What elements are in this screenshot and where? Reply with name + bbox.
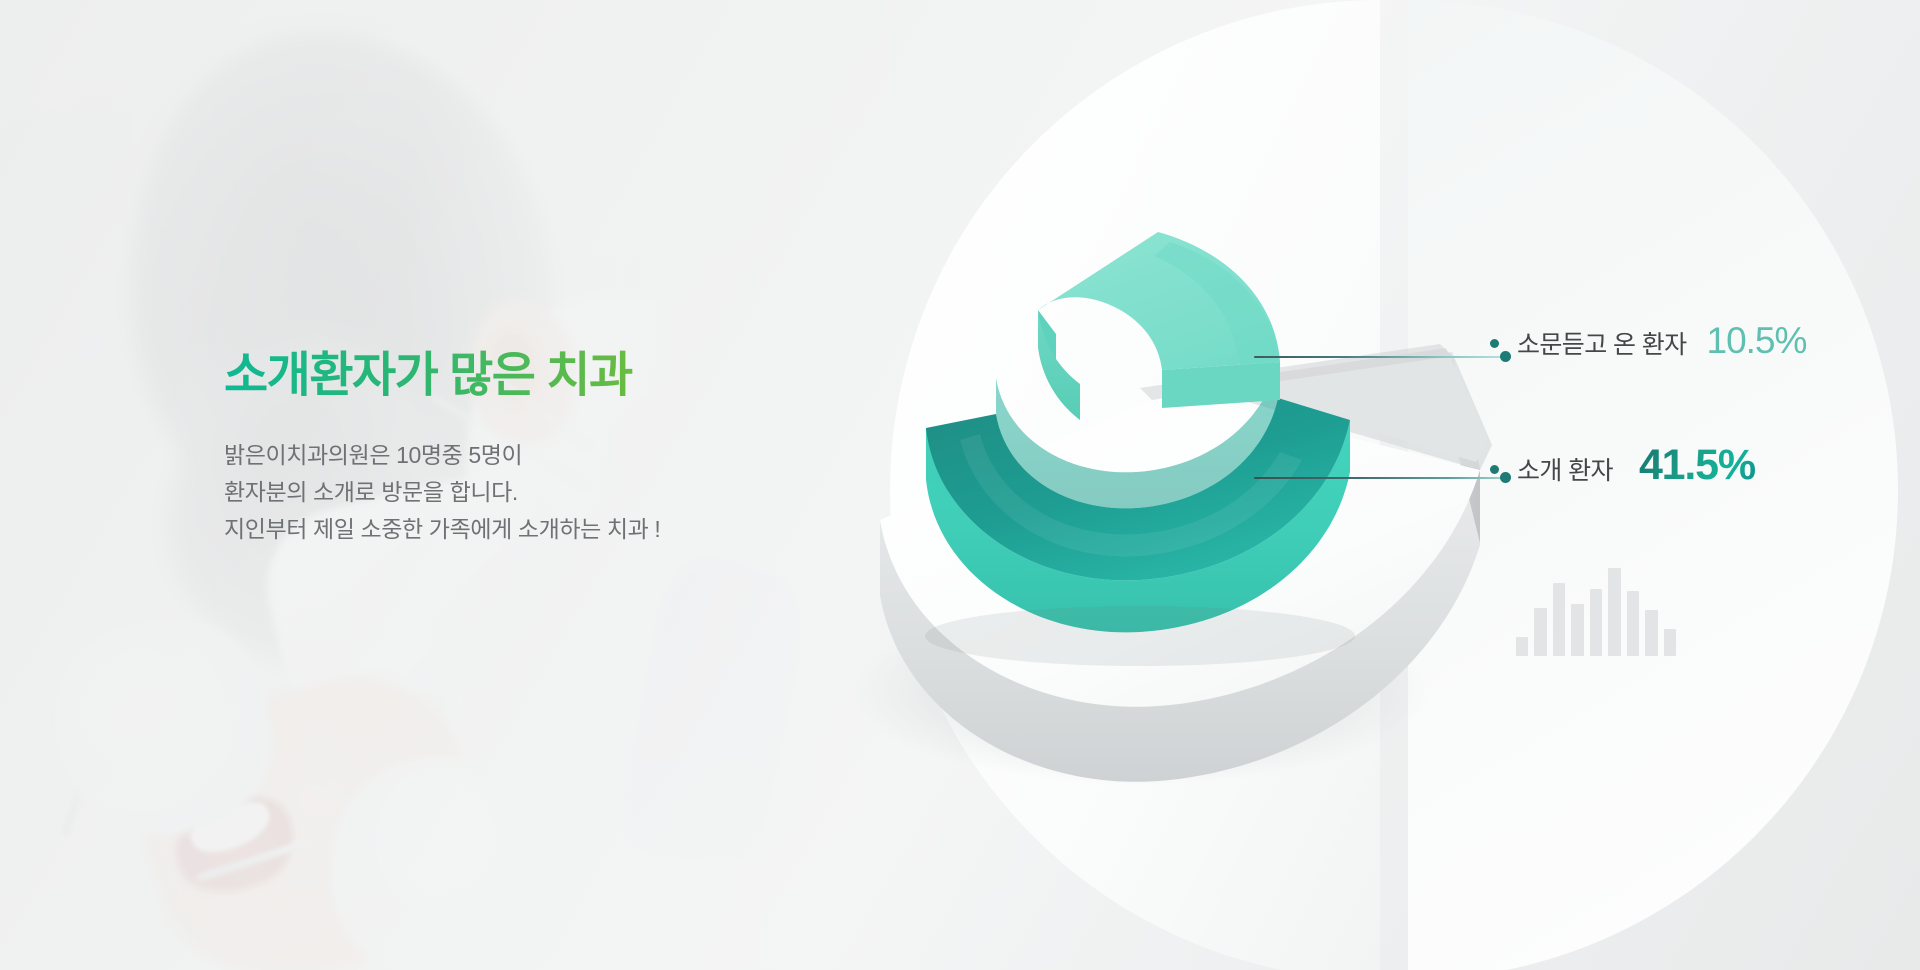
legend-item-referral: 소개 환자 41.5% <box>1490 441 1755 490</box>
hero-body-line-3: 지인부터 제일 소중한 가족에게 소개하는 치과 ! <box>224 511 864 548</box>
legend-label-referral: 소개 환자 <box>1517 451 1613 487</box>
legend-value-referral: 41.5% <box>1639 441 1755 490</box>
bar-chart-bar <box>1627 591 1639 656</box>
hero-body-line-2: 환자분의 소개로 방문을 합니다. <box>224 474 864 511</box>
legend-label-wom: 소문듣고 온 환자 <box>1517 325 1687 361</box>
bar-chart-bar <box>1590 589 1602 656</box>
bar-chart-bar <box>1534 608 1546 656</box>
bar-chart-bar <box>1571 604 1583 656</box>
hero-text-block: 소개환자가 많은 치과 밝은이치과의원은 10명중 5명이 환자분의 소개로 방… <box>224 350 864 549</box>
leader-line-wom <box>1254 356 1503 358</box>
hero-body-line-1: 밝은이치과의원은 10명중 5명이 <box>224 437 864 474</box>
page-title: 소개환자가 많은 치과 <box>224 350 864 403</box>
bar-chart-bar <box>1664 629 1676 656</box>
bar-chart-bar <box>1516 637 1528 656</box>
bar-chart-icon <box>1516 560 1676 656</box>
bar-chart-bar <box>1608 568 1620 656</box>
legend-bullet-icon <box>1490 339 1499 348</box>
leader-line-referral <box>1254 477 1503 479</box>
bar-chart-bar <box>1553 583 1565 656</box>
bar-chart-bar <box>1645 610 1657 656</box>
legend-value-wom: 10.5% <box>1707 320 1807 362</box>
hero-banner: 소개환자가 많은 치과 밝은이치과의원은 10명중 5명이 환자분의 소개로 방… <box>0 0 1920 970</box>
legend-bullet-icon <box>1490 465 1499 474</box>
legend-item-wom: 소문듣고 온 환자 10.5% <box>1490 320 1806 362</box>
